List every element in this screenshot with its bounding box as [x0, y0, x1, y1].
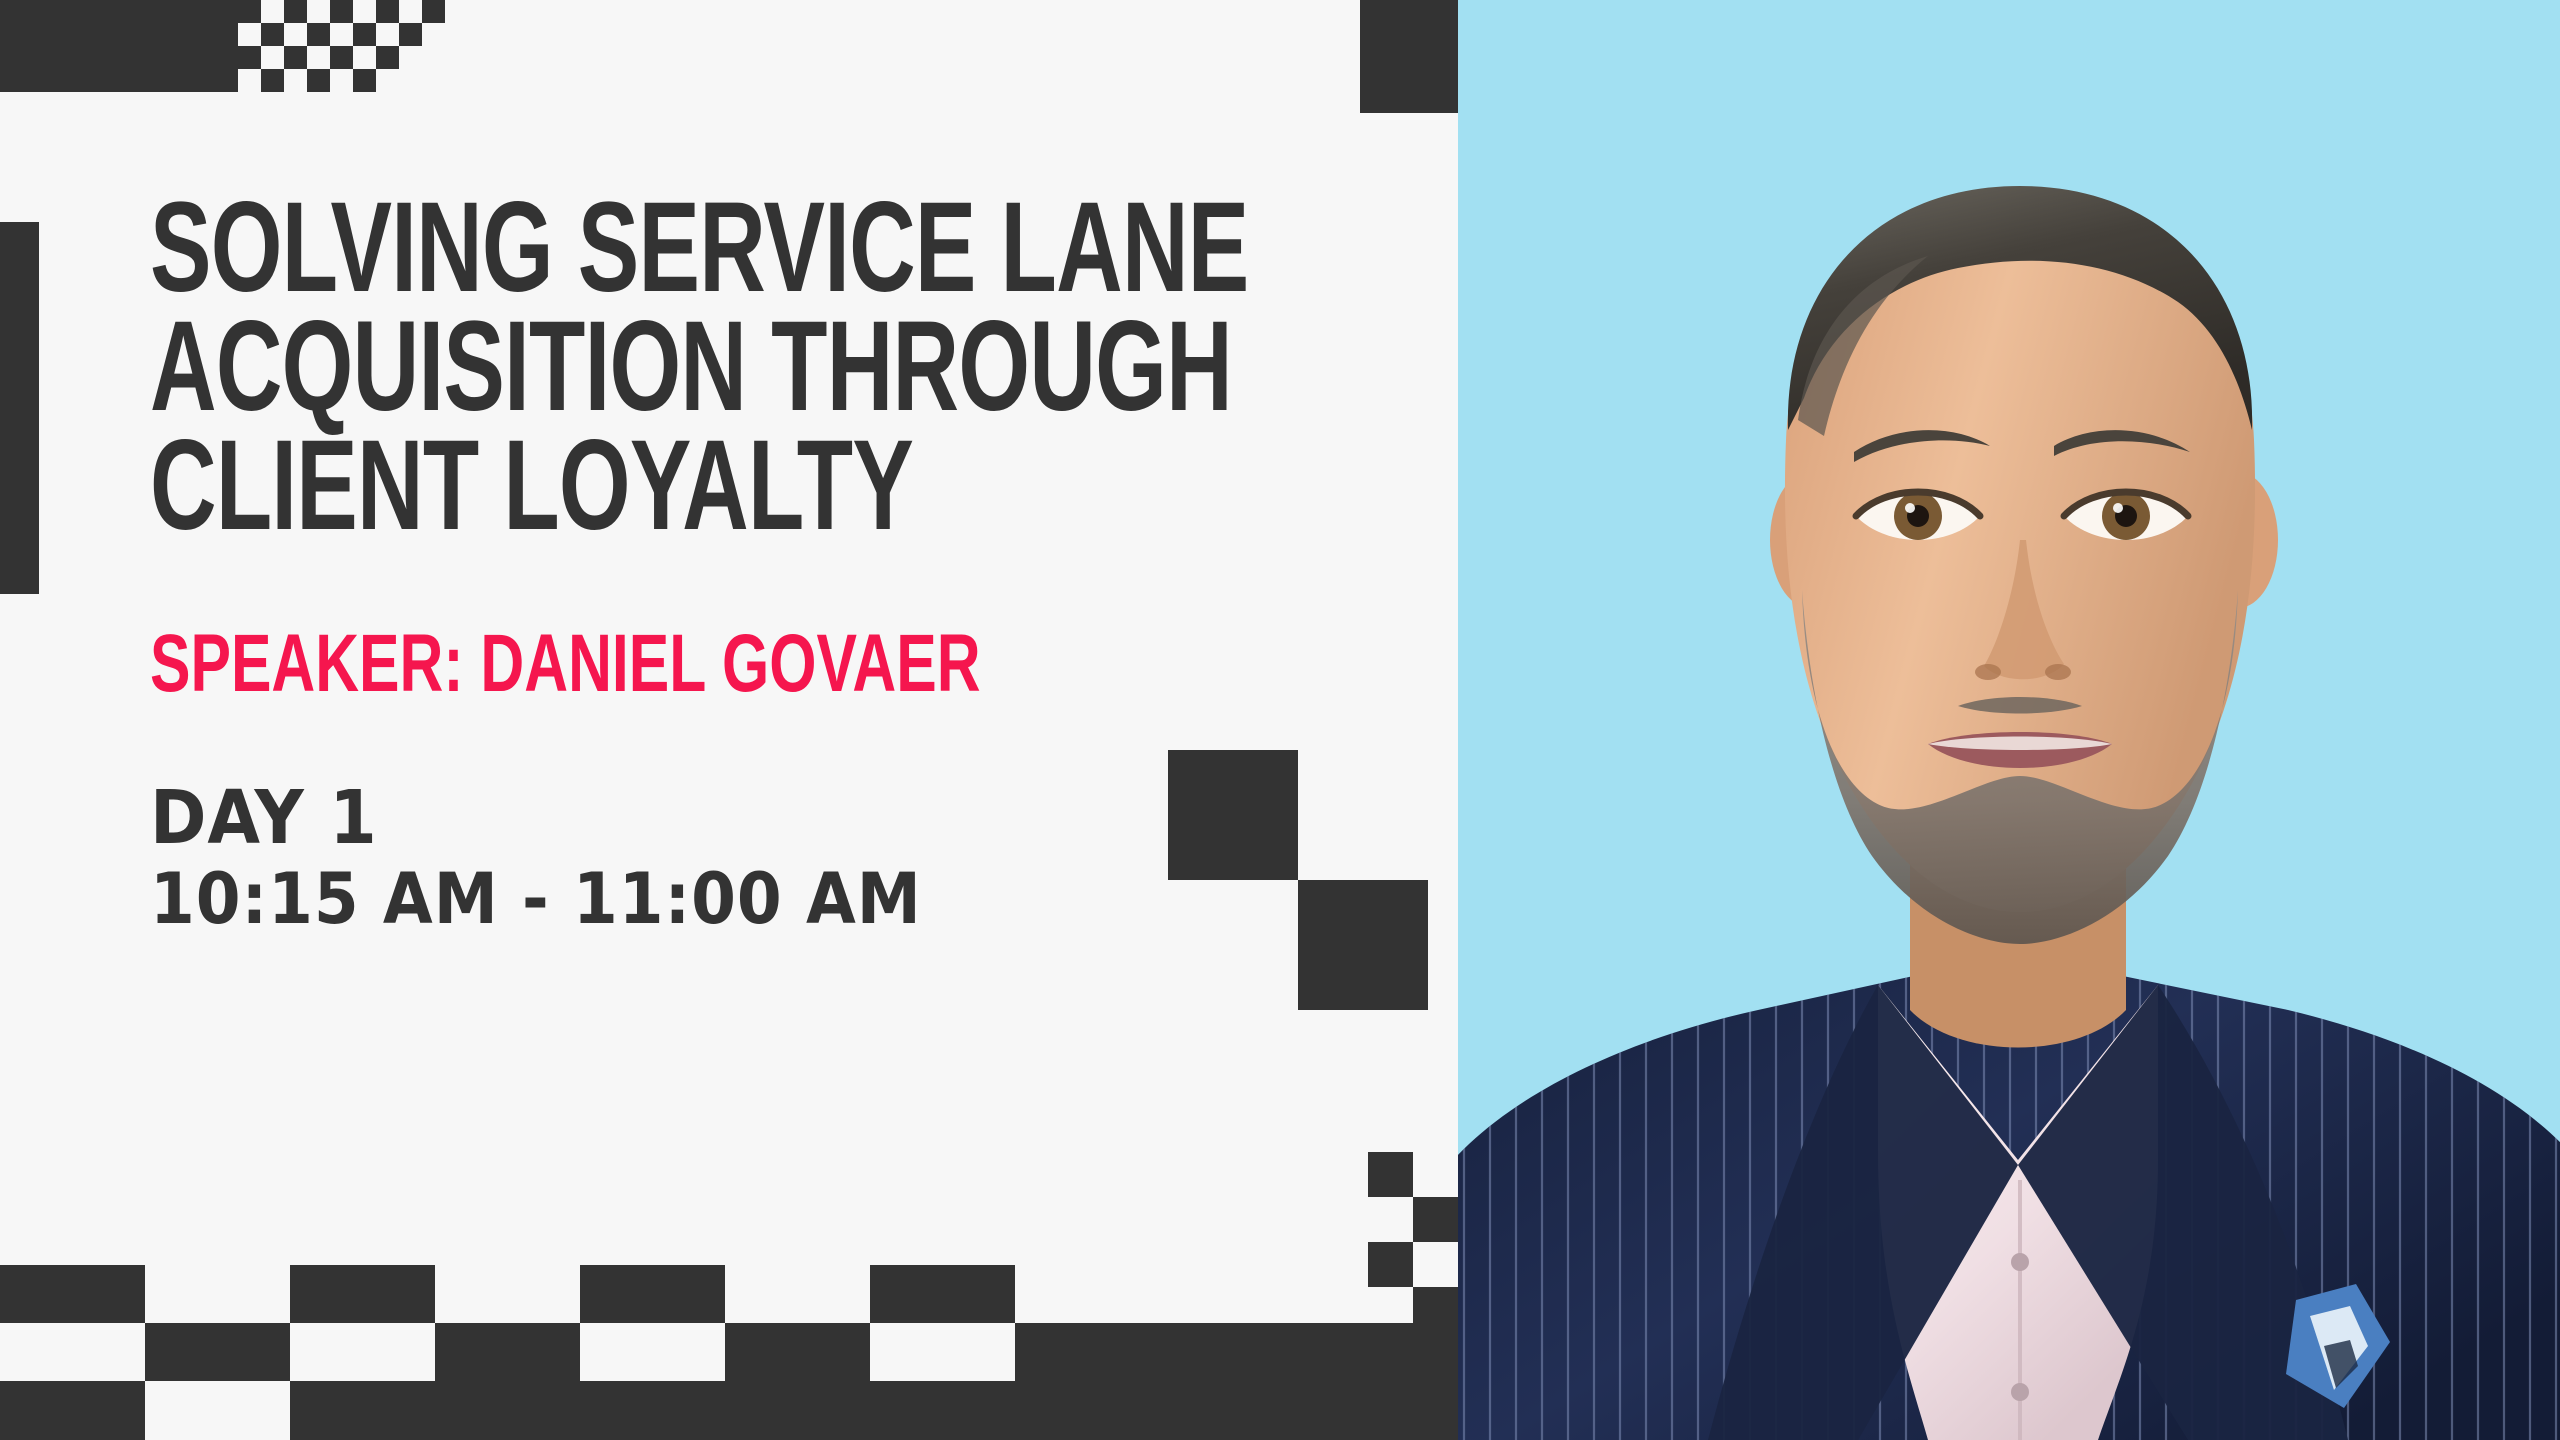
shirt-button [2011, 1253, 2029, 1271]
top-checker-cell [284, 46, 307, 69]
top-checker-cell [399, 23, 422, 46]
session-title-line-1: SOLVING SERVICE LANE [150, 188, 1043, 307]
top-right-block-decoration [1360, 0, 1458, 113]
shirt-button [2011, 1383, 2029, 1401]
top-checker-cell [238, 0, 261, 23]
left-accent-bar-decoration [0, 222, 39, 594]
ladder-checker-cell [1413, 1287, 1458, 1332]
speaker-portrait [1458, 0, 2560, 1440]
ladder-checker-cell [1368, 1242, 1413, 1287]
bottom-checker-cell [870, 1265, 1015, 1323]
bottom-solid-cell [0, 1381, 145, 1440]
top-checker-cell [238, 46, 261, 69]
content-panel: SOLVING SERVICE LANE ACQUISITION THROUGH… [0, 0, 1458, 1440]
bottom-checker-cell [580, 1265, 725, 1323]
top-checker-cell [261, 23, 284, 46]
ladder-checker-cell [1413, 1197, 1458, 1242]
top-checker-cell [284, 0, 307, 23]
top-checker-cell [307, 23, 330, 46]
session-text-block: SOLVING SERVICE LANE ACQUISITION THROUGH… [150, 188, 1390, 938]
top-checker-cell [330, 0, 353, 23]
nostril-left [1975, 664, 2001, 680]
top-checker-cell [261, 69, 284, 92]
session-day: DAY 1 [150, 777, 1291, 860]
session-title: SOLVING SERVICE LANE ACQUISITION THROUGH… [150, 188, 1390, 545]
top-checker-cell [353, 23, 376, 46]
top-checker-cell [422, 0, 445, 23]
bottom-checker-cell [290, 1265, 435, 1323]
session-schedule: DAY 1 10:15 AM - 11:00 AM [150, 777, 1390, 938]
bottom-checker-cell [725, 1323, 870, 1381]
speaker-name: SPEAKER: DANIEL GOVAER [150, 623, 1068, 705]
top-checker-cell [330, 46, 353, 69]
session-promo-poster: SOLVING SERVICE LANE ACQUISITION THROUGH… [0, 0, 2560, 1440]
top-checker-cell [353, 69, 376, 92]
bottom-checker-cell [1015, 1323, 1160, 1381]
speaker-photo-panel [1458, 0, 2560, 1440]
top-checker-cell [307, 69, 330, 92]
ladder-checker-cell [1368, 1152, 1413, 1197]
bottom-checker-cell [435, 1323, 580, 1381]
bottom-solid-run [290, 1381, 1160, 1440]
top-left-bar-decoration [0, 0, 238, 92]
session-time: 10:15 AM - 11:00 AM [150, 860, 1291, 938]
bottom-right-bar-decoration [1158, 1323, 1458, 1440]
top-checker-cell [376, 46, 399, 69]
bottom-checker-cell [0, 1265, 145, 1323]
top-checker-cell [376, 0, 399, 23]
nostril-right [2045, 664, 2071, 680]
bottom-checker-cell [145, 1323, 290, 1381]
session-title-line-2: ACQUISITION THROUGH [150, 307, 1043, 426]
session-title-line-3: CLIENT LOYALTY [150, 426, 1043, 545]
